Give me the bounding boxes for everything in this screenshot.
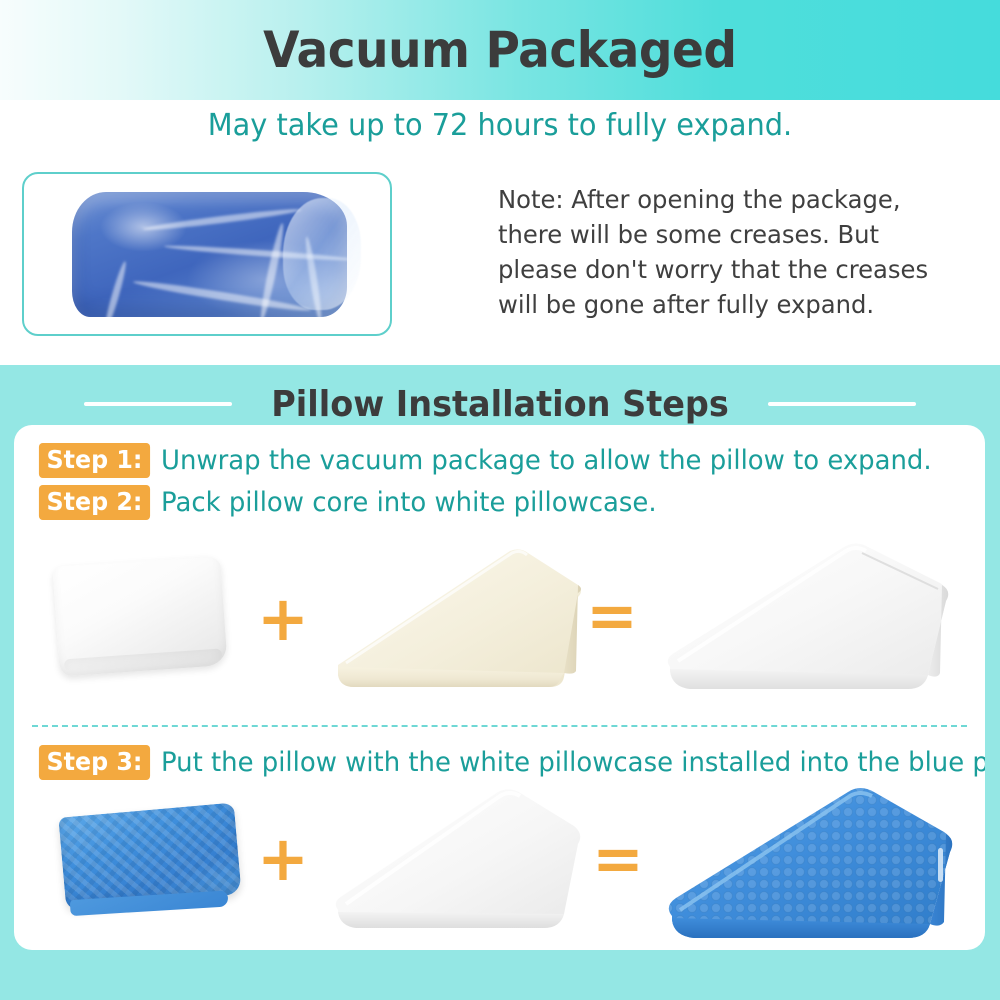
- blue-wedge-pillow-image: [662, 782, 962, 950]
- installation-section: Pillow Installation Steps Step 1: Unwrap…: [0, 365, 1000, 1000]
- white-wedge-pillow-image: [662, 539, 962, 701]
- white-wedge-pillow-image: [332, 786, 594, 936]
- step-badge-3: Step 3:: [39, 745, 150, 780]
- product-row-2: + =: [14, 780, 985, 950]
- plus-operator-icon: +: [257, 588, 309, 650]
- foam-core-wedge-image: [332, 545, 600, 697]
- plastic-crease-icon: [132, 278, 311, 314]
- note-line-1: Note: After opening the package,: [498, 182, 954, 217]
- step-badge-2: Step 2:: [39, 485, 150, 520]
- blue-pillowcase-folded-image: [58, 803, 241, 910]
- divider-rule-left: [84, 402, 232, 406]
- plastic-crease-icon: [102, 260, 128, 329]
- step-text-1: Unwrap the vacuum package to allow the p…: [161, 445, 932, 476]
- equals-operator-icon: =: [592, 828, 644, 890]
- step-row-1: Step 1: Unwrap the vacuum package to all…: [36, 443, 964, 478]
- plastic-crease-icon: [164, 243, 354, 262]
- equals-operator-icon: =: [586, 585, 638, 647]
- step-text-2: Pack pillow core into white pillowcase.: [161, 487, 657, 518]
- page-title: Vacuum Packaged: [263, 21, 736, 79]
- product-row-1: +: [14, 533, 985, 708]
- note-text: Note: After opening the package, there w…: [498, 182, 954, 322]
- section-divider: [32, 725, 967, 727]
- divider-rule-right: [768, 402, 916, 406]
- installation-heading: Pillow Installation Steps: [271, 384, 729, 425]
- zipper-icon: [938, 848, 943, 882]
- plus-operator-icon: +: [257, 828, 309, 890]
- vacuum-pack-icon: [72, 192, 347, 317]
- step-text-3: Put the pillow with the white pillowcase…: [161, 747, 985, 778]
- note-line-3: please don't worry that the creases: [498, 252, 954, 287]
- header-subtitle: May take up to 72 hours to fully expand.: [20, 108, 980, 143]
- header-banner: Vacuum Packaged: [0, 0, 1000, 100]
- installation-card: Step 1: Unwrap the vacuum package to all…: [14, 425, 985, 950]
- note-line-2: there will be some creases. But: [498, 217, 954, 252]
- white-pillowcase-folded-image: [52, 555, 227, 676]
- step-badge-1: Step 1:: [39, 443, 150, 478]
- vacuum-package-photo: [22, 172, 392, 336]
- step-row-2: Step 2: Pack pillow core into white pill…: [36, 485, 677, 520]
- note-line-4: will be gone after fully expand.: [498, 287, 954, 322]
- step-row-3: Step 3: Put the pillow with the white pi…: [36, 745, 985, 780]
